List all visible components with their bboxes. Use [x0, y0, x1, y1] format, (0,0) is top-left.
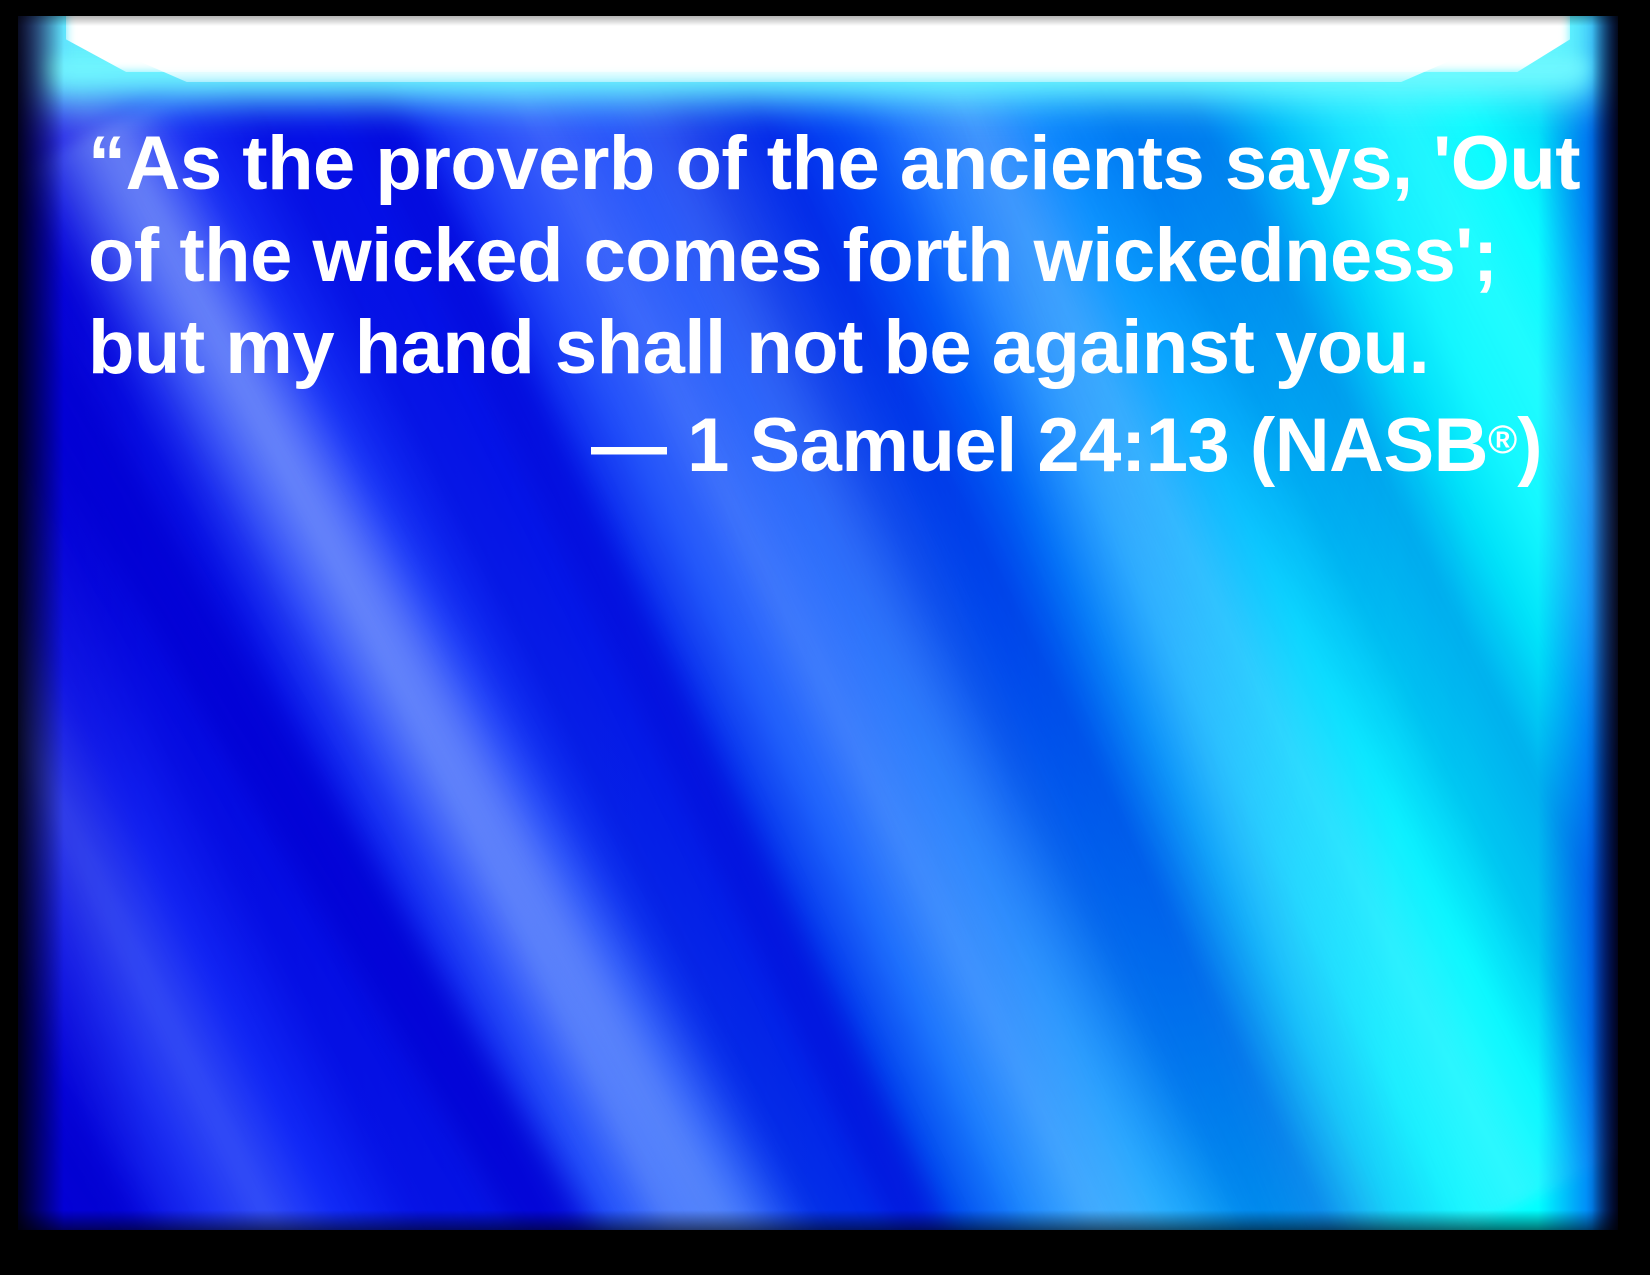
verse-slide: “As the proverb of the ancients says, 'O… [0, 0, 1650, 1275]
verse-text-block: “As the proverb of the ancients says, 'O… [88, 118, 1548, 492]
attribution-translation-open: (NASB [1250, 403, 1488, 488]
attribution-translation-close: ) [1517, 403, 1542, 488]
verse-line-2: of the wicked comes forth wickedness'; [88, 210, 1548, 302]
registered-trademark-icon: ® [1488, 418, 1517, 462]
attribution-book: 1 Samuel [687, 403, 1017, 488]
attribution-dash: — [591, 403, 687, 488]
slide-canvas: “As the proverb of the ancients says, 'O… [18, 16, 1618, 1230]
verse-line-3: but my hand shall not be against you. [88, 302, 1548, 394]
verse-line-1: “As the proverb of the ancients says, 'O… [88, 118, 1548, 210]
verse-attribution: — 1 Samuel 24:13 (NASB®) [88, 394, 1548, 492]
attribution-reference: 24:13 [1017, 403, 1250, 488]
